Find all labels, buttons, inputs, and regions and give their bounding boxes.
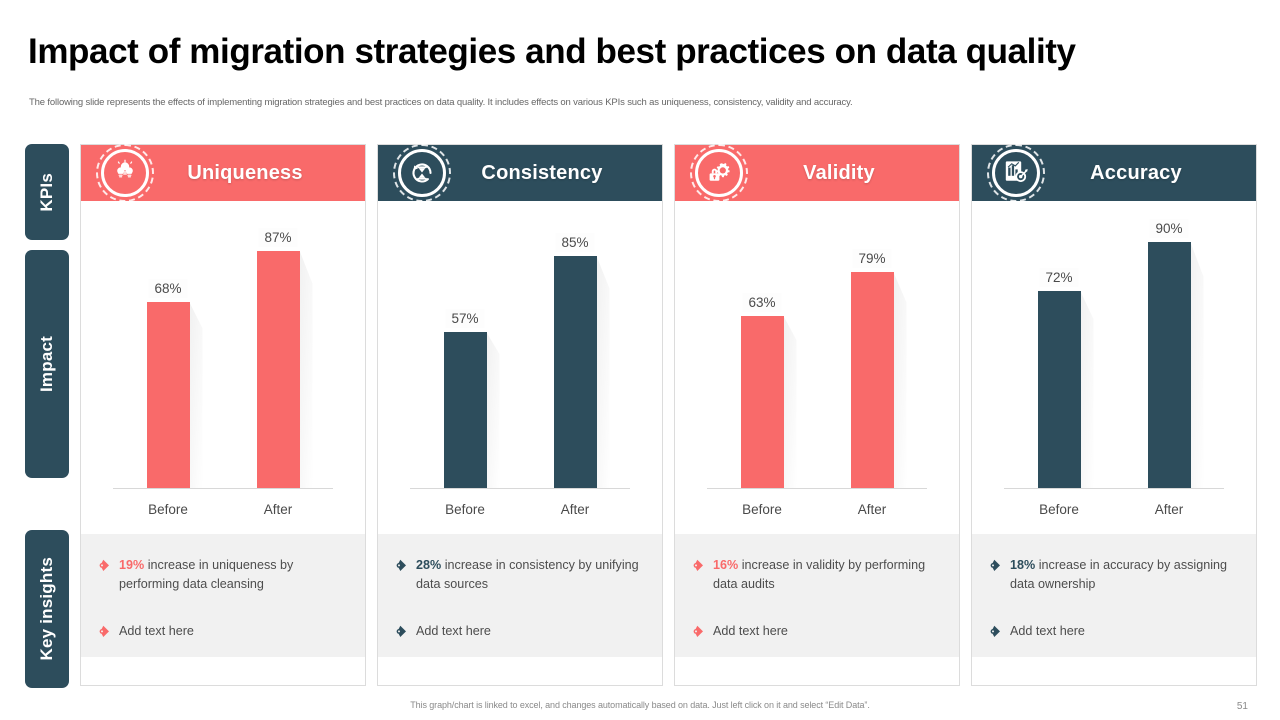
insight-placeholder-text[interactable]: Add text here <box>119 622 194 641</box>
key-insights-panel: 18% increase in accuracy by assigning da… <box>972 534 1256 657</box>
bar-group: 57% <box>410 215 520 488</box>
x-axis-tick-label: After <box>817 502 927 517</box>
bar: 63% <box>741 316 784 488</box>
rail-label-impact: Impact <box>25 250 69 478</box>
x-axis-tick-label: After <box>520 502 630 517</box>
rail-label-key-insights-text: Key insights <box>37 557 57 660</box>
bar-group: 63% <box>707 215 817 488</box>
bar-chart[interactable]: 63%79%BeforeAfter <box>689 201 945 531</box>
bar-group: 85% <box>520 215 630 488</box>
kpi-card: Consistency57%85%BeforeAfter28% increase… <box>377 144 663 686</box>
report-target-icon-glyph <box>992 149 1040 197</box>
page-title: Impact of migration strategies and best … <box>28 32 1076 72</box>
bar-value-label: 90% <box>1149 219 1188 238</box>
key-insights-panel: 19% increase in uniqueness by performing… <box>81 534 365 657</box>
insight-text: 16% increase in validity by performing d… <box>713 556 941 594</box>
chart-plot-area: 72%90% <box>1004 215 1224 489</box>
diamond-bullet-icon <box>988 625 1001 643</box>
lock-gear-icon-glyph <box>695 149 743 197</box>
diamond-bullet-icon <box>691 559 704 577</box>
bar-value-label: 85% <box>555 233 594 252</box>
card-header: Accuracy <box>972 145 1256 201</box>
rail-label-key-insights: Key insights <box>25 530 69 688</box>
bar: 68% <box>147 302 190 488</box>
bar-column: 72% <box>1038 215 1081 488</box>
bar-value-label: 63% <box>742 293 781 312</box>
kpi-card: Validity63%79%BeforeAfter16% increase in… <box>674 144 960 686</box>
report-target-icon <box>987 144 1045 202</box>
bar-chart[interactable]: 72%90%BeforeAfter <box>986 201 1242 531</box>
bar-value-label: 72% <box>1039 268 1078 287</box>
insight-text: 28% increase in consistency by unifying … <box>416 556 644 594</box>
insight-placeholder-text[interactable]: Add text here <box>713 622 788 641</box>
x-axis-labels: BeforeAfter <box>410 502 630 517</box>
diamond-bullet-icon <box>394 559 407 577</box>
x-axis-tick-label: Before <box>113 502 223 517</box>
kpi-card: Accuracy72%90%BeforeAfter18% increase in… <box>971 144 1257 686</box>
diamond-bullet-icon <box>691 625 704 643</box>
insight-item: 19% increase in uniqueness by performing… <box>97 556 347 594</box>
insight-percent: 16% <box>713 558 738 572</box>
insight-percent: 28% <box>416 558 441 572</box>
bar-group: 87% <box>223 215 333 488</box>
hourglass-refresh-icon <box>393 144 451 202</box>
bar-column: 79% <box>851 215 894 488</box>
chart-plot-area: 57%85% <box>410 215 630 489</box>
insight-item: 18% increase in accuracy by assigning da… <box>988 556 1238 594</box>
bar: 85% <box>554 256 597 488</box>
bar: 79% <box>851 272 894 488</box>
kpi-card: Uniqueness68%87%BeforeAfter19% increase … <box>80 144 366 686</box>
insight-description: increase in consistency by unifying data… <box>416 558 639 591</box>
x-axis-tick-label: After <box>1114 502 1224 517</box>
diamond-bullet-icon <box>97 559 110 577</box>
insight-percent: 19% <box>119 558 144 572</box>
rail-label-kpis: KPIs <box>25 144 69 240</box>
x-axis-labels: BeforeAfter <box>113 502 333 517</box>
footer-note: This graph/chart is linked to excel, and… <box>0 700 1280 710</box>
bar-column: 90% <box>1148 215 1191 488</box>
key-insights-panel: 16% increase in validity by performing d… <box>675 534 959 657</box>
insight-description: increase in accuracy by assigning data o… <box>1010 558 1227 591</box>
x-axis-tick-label: Before <box>410 502 520 517</box>
bar-column: 87% <box>257 215 300 488</box>
insight-text: 19% increase in uniqueness by performing… <box>119 556 347 594</box>
insight-percent: 18% <box>1010 558 1035 572</box>
bar: 87% <box>257 251 300 489</box>
lock-gear-icon <box>690 144 748 202</box>
bar-column: 57% <box>444 215 487 488</box>
bar-group: 90% <box>1114 215 1224 488</box>
x-axis-tick-label: Before <box>707 502 817 517</box>
bar-group: 79% <box>817 215 927 488</box>
x-axis-tick-label: After <box>223 502 333 517</box>
insight-placeholder-text[interactable]: Add text here <box>416 622 491 641</box>
lightbulbs-icon-glyph <box>101 149 149 197</box>
insight-description: increase in uniqueness by performing dat… <box>119 558 293 591</box>
bar-group: 72% <box>1004 215 1114 488</box>
bar-chart[interactable]: 68%87%BeforeAfter <box>95 201 351 531</box>
bar-group: 68% <box>113 215 223 488</box>
insight-item: 16% increase in validity by performing d… <box>691 556 941 594</box>
insight-item[interactable]: Add text here <box>97 622 347 643</box>
diamond-bullet-icon <box>97 625 110 643</box>
bar-value-label: 87% <box>258 228 297 247</box>
bar-column: 63% <box>741 215 784 488</box>
page-number: 51 <box>1237 701 1248 712</box>
card-header: Validity <box>675 145 959 201</box>
card-header: Uniqueness <box>81 145 365 201</box>
bar-column: 68% <box>147 215 190 488</box>
chart-plot-area: 63%79% <box>707 215 927 489</box>
bar-chart[interactable]: 57%85%BeforeAfter <box>392 201 648 531</box>
x-axis-tick-label: Before <box>1004 502 1114 517</box>
diamond-bullet-icon <box>988 559 1001 577</box>
insight-placeholder-text[interactable]: Add text here <box>1010 622 1085 641</box>
bar-column: 85% <box>554 215 597 488</box>
rail-label-kpis-text: KPIs <box>37 173 57 212</box>
bar-value-label: 57% <box>445 309 484 328</box>
bar-value-label: 68% <box>148 279 187 298</box>
rail-label-impact-text: Impact <box>37 336 57 392</box>
chart-plot-area: 68%87% <box>113 215 333 489</box>
diamond-bullet-icon <box>394 625 407 643</box>
x-axis-labels: BeforeAfter <box>1004 502 1224 517</box>
insight-item[interactable]: Add text here <box>988 622 1238 643</box>
hourglass-refresh-icon-glyph <box>398 149 446 197</box>
card-header: Consistency <box>378 145 662 201</box>
bar: 72% <box>1038 291 1081 488</box>
insight-text: 18% increase in accuracy by assigning da… <box>1010 556 1238 594</box>
insight-item[interactable]: Add text here <box>691 622 941 643</box>
bar: 90% <box>1148 242 1191 488</box>
insight-item: 28% increase in consistency by unifying … <box>394 556 644 594</box>
bar-value-label: 79% <box>852 249 891 268</box>
x-axis-labels: BeforeAfter <box>707 502 927 517</box>
insight-description: increase in validity by performing data … <box>713 558 925 591</box>
key-insights-panel: 28% increase in consistency by unifying … <box>378 534 662 657</box>
insight-item[interactable]: Add text here <box>394 622 644 643</box>
lightbulbs-icon <box>96 144 154 202</box>
page-subtitle: The following slide represents the effec… <box>29 97 853 108</box>
bar: 57% <box>444 332 487 488</box>
